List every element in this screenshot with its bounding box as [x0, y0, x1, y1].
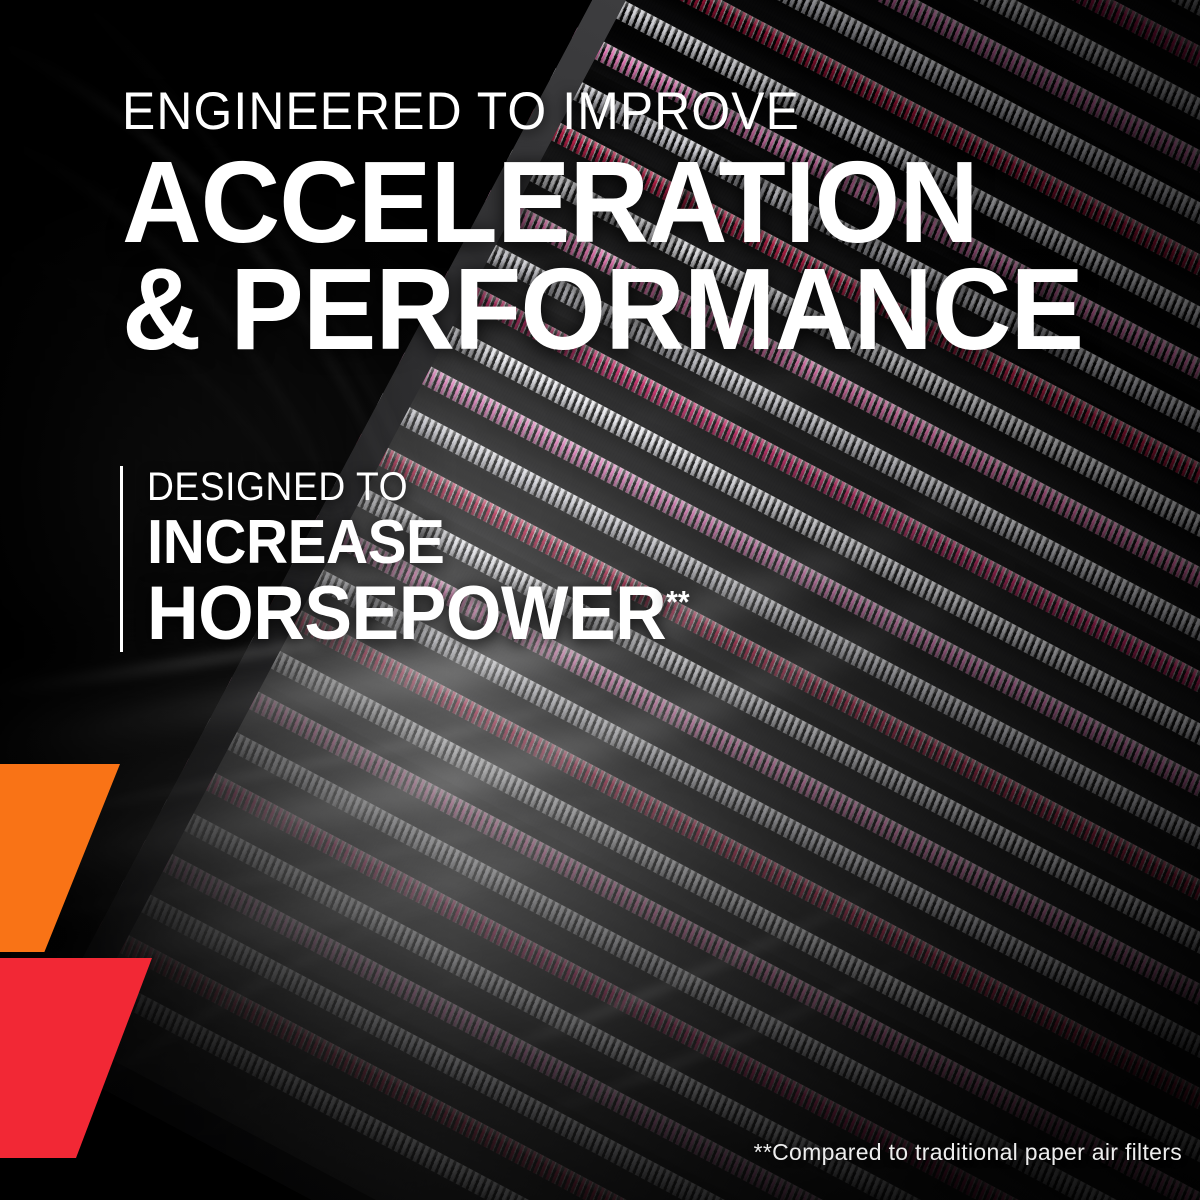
footnote-text: **Compared to traditional paper air filt… — [754, 1139, 1182, 1166]
sub-headline-block: DESIGNED TO INCREASE HORSEPOWER** — [120, 466, 724, 652]
main-headline-block: ENGINEERED TO IMPROVE ACCELERATION & PER… — [122, 84, 1134, 366]
sub-headline-eyebrow: DESIGNED TO — [147, 466, 684, 508]
advertisement-banner: ENGINEERED TO IMPROVE ACCELERATION & PER… — [0, 0, 1200, 1200]
sub-headline-line-1: INCREASE — [147, 512, 690, 574]
sub-headline-line-2: HORSEPOWER** — [147, 576, 690, 652]
sub-headline-line-2-text: HORSEPOWER — [147, 571, 666, 656]
headline-line-1: ACCELERATION — [122, 147, 1083, 258]
filter-pleat — [59, 747, 1200, 1200]
headline-line-2: & PERFORMANCE — [122, 254, 1083, 365]
headline-eyebrow: ENGINEERED TO IMPROVE — [122, 84, 1073, 139]
footnote-marker: ** — [666, 584, 689, 620]
